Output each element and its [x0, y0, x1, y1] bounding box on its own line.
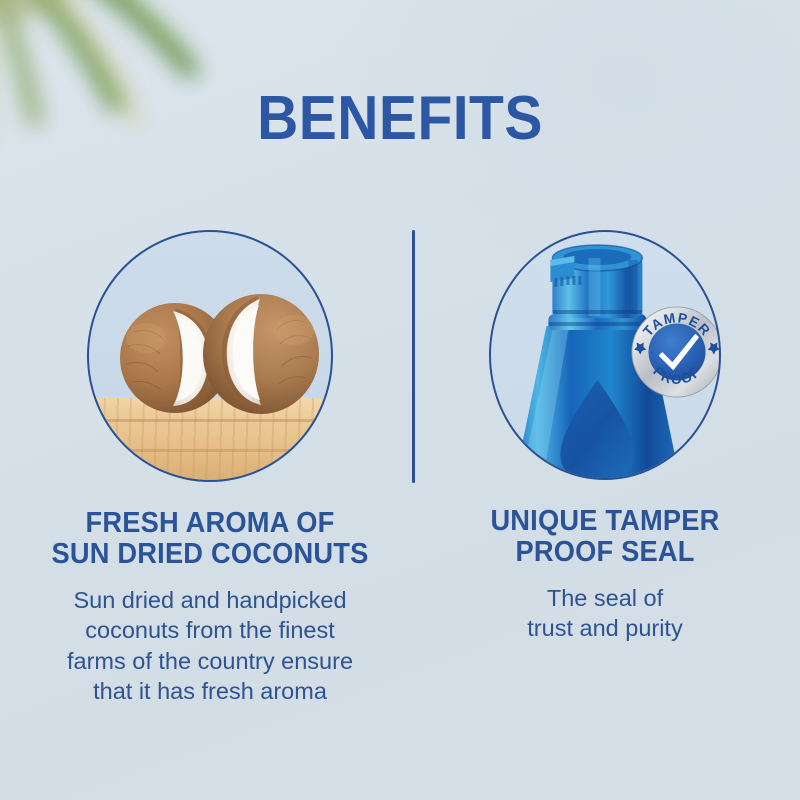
- benefit-body-tamper-proof: The seal of trust and purity: [420, 583, 790, 644]
- benefit-image-bottle: TAMPER PROOF: [489, 230, 721, 480]
- body-line: coconuts from the finest: [20, 615, 400, 646]
- body-line: that it has fresh aroma: [20, 676, 400, 707]
- benefits-poster: BENEFITS: [0, 0, 800, 800]
- benefit-heading-fresh-aroma: FRESH AROMA OF SUN DRIED COCONUTS: [31, 508, 388, 571]
- page-title: BENEFITS: [32, 88, 768, 150]
- benefit-card-fresh-aroma: FRESH AROMA OF SUN DRIED COCONUTS Sun dr…: [20, 230, 400, 707]
- benefit-card-tamper-proof: TAMPER PROOF UNIQUE TAMPER: [420, 230, 790, 644]
- heading-line: UNIQUE TAMPER: [431, 506, 779, 537]
- heading-line: FRESH AROMA OF: [31, 508, 388, 539]
- heading-line: SUN DRIED COCONUTS: [31, 539, 388, 570]
- benefit-heading-tamper-proof: UNIQUE TAMPER PROOF SEAL: [431, 506, 779, 569]
- column-divider: [412, 230, 415, 483]
- coconut-half-right-icon: [198, 288, 324, 416]
- body-line: farms of the country ensure: [20, 646, 400, 677]
- body-line: trust and purity: [420, 613, 790, 644]
- heading-line: PROOF SEAL: [431, 537, 779, 568]
- benefit-body-fresh-aroma: Sun dried and handpicked coconuts from t…: [20, 585, 400, 707]
- benefit-image-coconut: [87, 230, 333, 482]
- body-line: Sun dried and handpicked: [20, 585, 400, 616]
- tamper-proof-badge: TAMPER PROOF: [631, 306, 719, 398]
- body-line: The seal of: [420, 583, 790, 614]
